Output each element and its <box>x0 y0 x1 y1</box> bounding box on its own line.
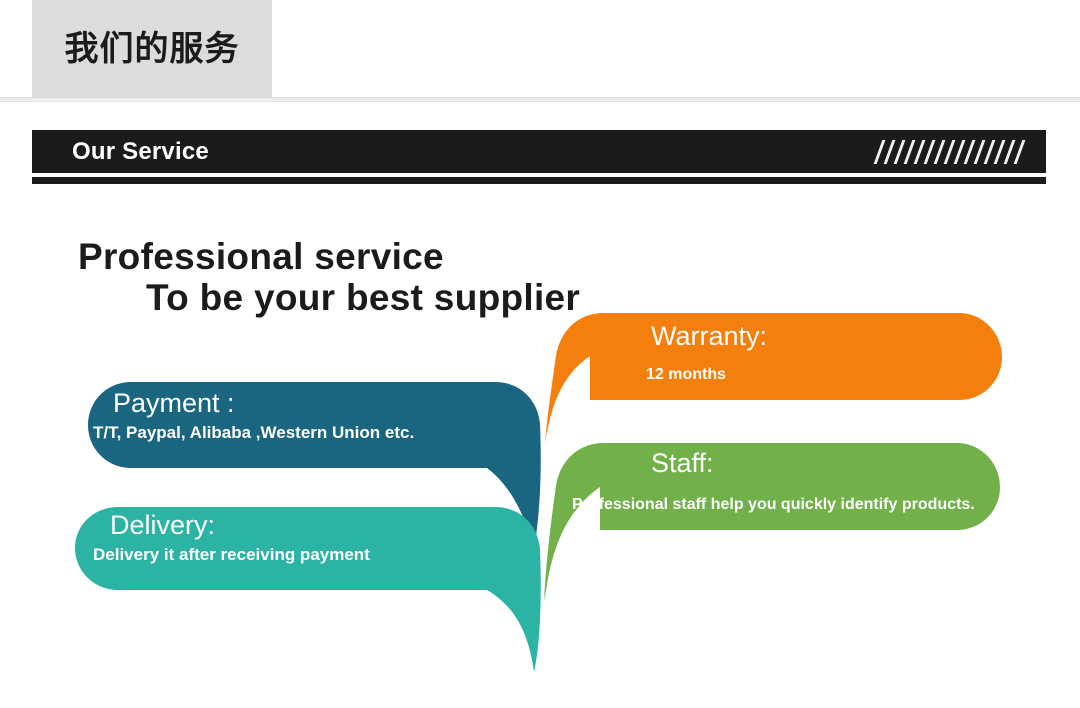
bubble-delivery-subtitle: Delivery it after receiving payment <box>93 545 370 564</box>
service-bubble-diagram: Payment : T/T, Paypal, Alibaba ,Western … <box>0 0 1080 708</box>
bubble-warranty-subtitle: 12 months <box>646 366 726 383</box>
bubble-delivery[interactable]: Delivery: Delivery it after receiving pa… <box>75 507 541 672</box>
bubble-warranty-shape <box>546 313 1002 442</box>
bubble-staff[interactable]: Staff: Professional staff help you quick… <box>544 443 1000 602</box>
bubble-staff-title: Staff: <box>651 448 714 478</box>
bubble-staff-subtitle: Professional staff help you quickly iden… <box>572 496 975 513</box>
bubble-warranty[interactable]: Warranty: 12 months <box>545 313 1002 444</box>
bubble-payment-title: Payment : <box>113 388 235 418</box>
bubble-delivery-title: Delivery: <box>110 510 215 540</box>
bubble-warranty-title: Warranty: <box>651 321 767 351</box>
bubble-staff-shape <box>545 443 1000 601</box>
bubble-payment-subtitle: T/T, Paypal, Alibaba ,Western Union etc. <box>93 423 414 442</box>
